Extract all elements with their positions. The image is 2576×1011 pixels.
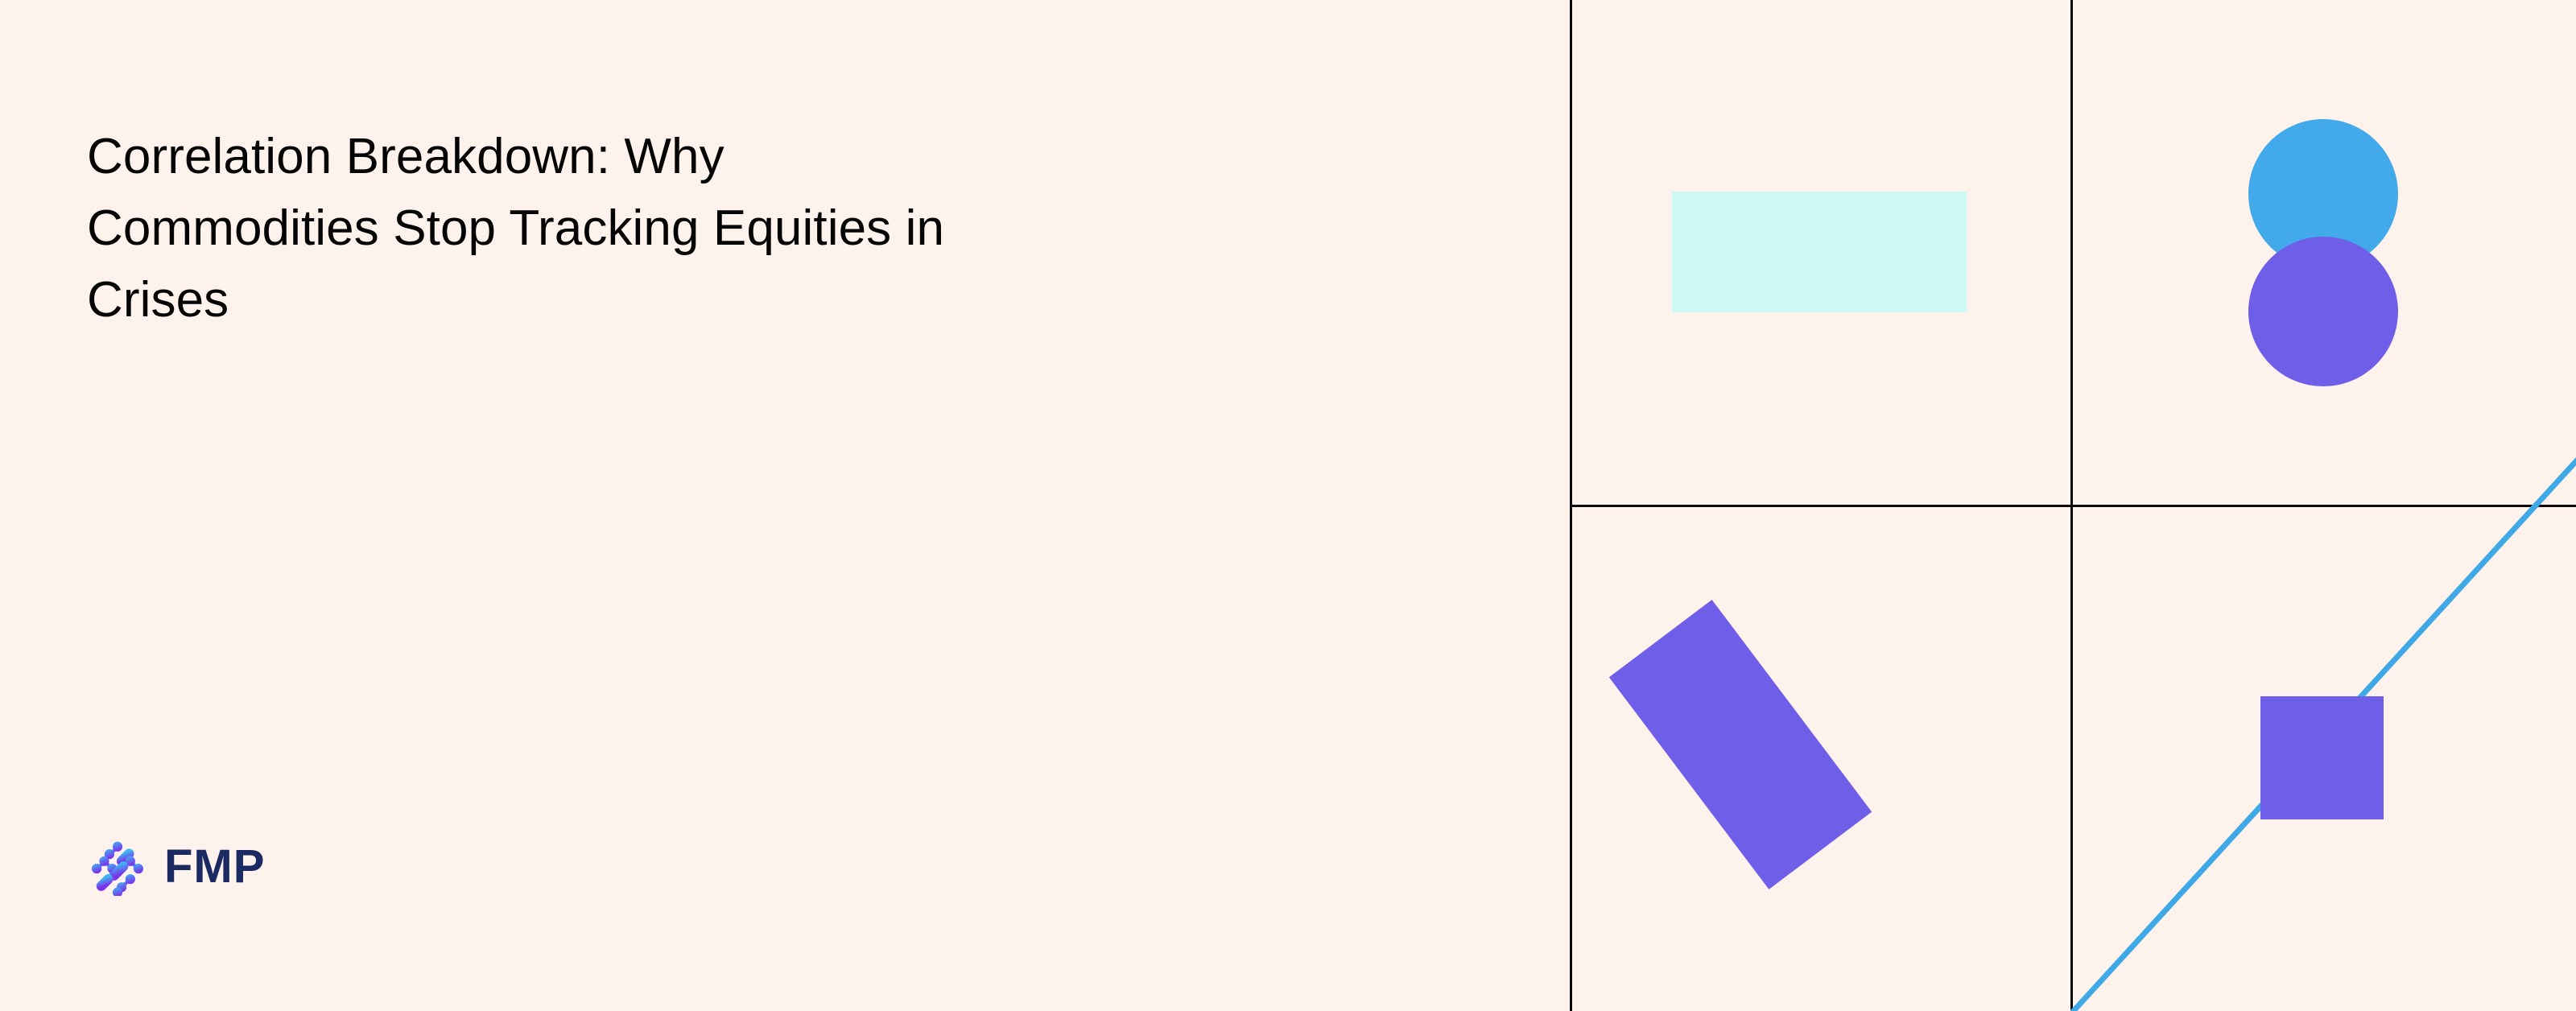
grid-line-horizontal [1570,505,2576,507]
fmp-wordmark: FMP [164,844,265,890]
purple-circle-shape [2248,237,2398,386]
fmp-logo-icon [89,838,147,896]
fmp-brand-lockup: FMP [89,839,265,895]
mint-rectangle-shape [1672,192,1967,312]
blue-diagonal-line-shape [2070,451,2576,1011]
grid-line-vertical-right [2070,0,2073,1011]
blue-circle-shape [2248,119,2398,269]
grid-line-vertical-left [1570,0,1572,1011]
purple-rotated-bar-shape [1609,600,1872,889]
social-card-canvas: Correlation Breakdown: Why Commodities S… [0,0,2576,1011]
purple-square-shape [2260,696,2384,819]
article-headline: Correlation Breakdown: Why Commodities S… [87,121,1439,336]
